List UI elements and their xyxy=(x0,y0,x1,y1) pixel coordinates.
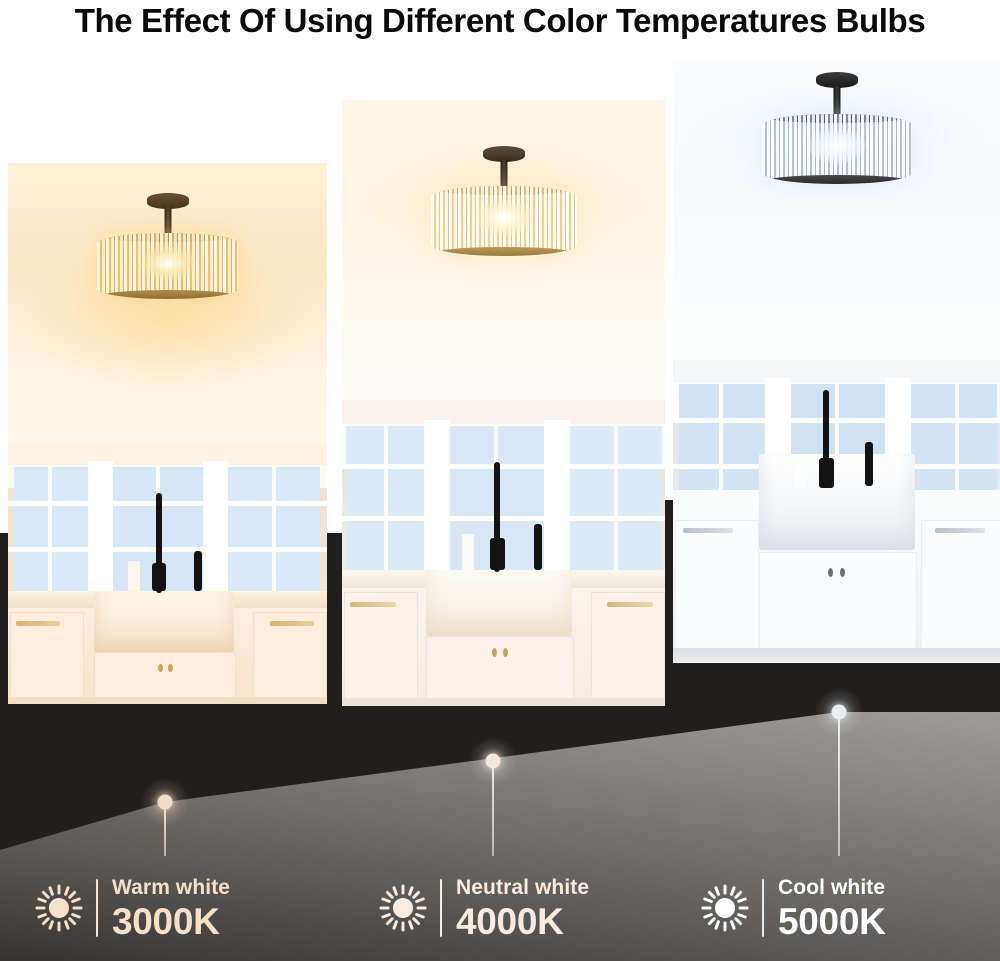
cabinet-handle-right-neutral xyxy=(607,602,653,607)
kitchen-scene-cool xyxy=(673,60,1000,663)
kitchen-scene-neutral xyxy=(342,100,665,706)
cabinet-knob-a-warm xyxy=(158,664,163,672)
cabinet-knob-b-cool xyxy=(840,568,845,577)
marker-warm-stem xyxy=(164,808,166,856)
legend-kelvin: 5000K xyxy=(778,903,886,940)
photo-panel-warm-white xyxy=(8,163,327,704)
window-header-neutral xyxy=(342,400,665,424)
window-mullion-1-neutral xyxy=(424,420,450,572)
baseboard-cool xyxy=(673,648,1000,662)
sun-icon xyxy=(378,883,428,933)
faucet-neck-neutral xyxy=(490,538,505,570)
cabinet-right-neutral xyxy=(591,592,665,706)
legend-kelvin: 3000K xyxy=(112,903,230,940)
soap-dispenser-neutral xyxy=(462,534,474,570)
baseboard-neutral xyxy=(342,698,665,706)
window-band-warm xyxy=(8,443,327,593)
window-mullion-2-warm xyxy=(203,461,228,593)
faucet-neck-cool xyxy=(819,458,834,488)
marker-cool-stem xyxy=(838,718,840,856)
drum-bottom-ring-neutral xyxy=(431,247,577,256)
legend-name: Cool white xyxy=(778,877,886,898)
farmhouse-sink-warm xyxy=(94,592,234,652)
cabinet-row-cool xyxy=(673,490,1000,660)
faucet-sprayer-neutral xyxy=(534,524,542,570)
cabinet-row-warm xyxy=(8,608,327,704)
legend-labels: Neutral white 4000K xyxy=(456,877,589,940)
drum-bottom-ring-cool xyxy=(762,175,912,184)
lamp-drum-neutral xyxy=(431,186,577,256)
legend-kelvin: 4000K xyxy=(456,903,589,940)
lamp-drum-cool xyxy=(762,114,912,184)
window-mullion-2-neutral xyxy=(544,420,570,572)
drum-bottom-ring-warm xyxy=(97,290,239,299)
faucet-neck-warm xyxy=(152,563,166,591)
cabinet-knob-b-neutral xyxy=(503,648,508,657)
legend-name: Neutral white xyxy=(456,877,589,898)
infographic-root: The Effect Of Using Different Color Temp… xyxy=(0,0,1000,961)
photo-panel-neutral-white xyxy=(342,100,665,706)
soap-dispenser-cool xyxy=(795,456,807,488)
sink-base-cabinet-neutral xyxy=(426,636,574,706)
faucet-sprayer-warm xyxy=(194,551,202,591)
sun-icon xyxy=(700,883,750,933)
cabinet-knob-b-warm xyxy=(168,664,173,672)
window-grid-v3-neutral xyxy=(614,426,618,572)
faucet-sprayer-cool xyxy=(865,442,873,486)
cabinet-left-neutral xyxy=(344,592,418,706)
baseboard-warm xyxy=(8,697,327,704)
window-grid-h2-warm xyxy=(8,547,327,552)
legend-divider xyxy=(762,879,764,937)
bulb-core-cool xyxy=(808,128,866,164)
page-title: The Effect Of Using Different Color Temp… xyxy=(0,0,1000,42)
window-grid-h1-warm xyxy=(8,501,327,506)
cabinet-row-neutral xyxy=(342,588,665,706)
cabinet-right-cool xyxy=(921,520,1000,662)
window-header-warm xyxy=(8,443,327,465)
marker-neutral-stem xyxy=(492,767,494,856)
farmhouse-sink-neutral xyxy=(426,570,572,636)
window-grid-v1-warm xyxy=(48,467,52,593)
legend-labels: Warm white 3000K xyxy=(112,877,230,940)
farmhouse-sink-cool xyxy=(759,454,915,550)
legend-divider xyxy=(440,879,442,937)
soap-dispenser-warm xyxy=(128,561,140,591)
legend-divider xyxy=(96,879,98,937)
window-header-cool xyxy=(673,360,1000,382)
cabinet-left-cool xyxy=(675,520,759,662)
sink-base-cabinet-cool xyxy=(759,552,917,662)
cabinet-knob-a-cool xyxy=(828,568,833,577)
cabinet-handle-left-warm xyxy=(16,621,60,626)
legend-item-neutral-white[interactable]: Neutral white 4000K xyxy=(378,855,589,961)
window-grid-v1-neutral xyxy=(384,426,388,572)
window-grid-v3-warm xyxy=(272,467,276,593)
bulb-core-warm xyxy=(140,246,196,280)
cabinet-handle-left-cool xyxy=(683,528,733,533)
legend-labels: Cool white 5000K xyxy=(778,877,886,940)
sun-icon xyxy=(34,883,84,933)
legend-item-warm-white[interactable]: Warm white 3000K xyxy=(34,855,230,961)
legend: Warm white 3000K xyxy=(0,855,1000,961)
legend-name: Warm white xyxy=(112,877,230,898)
legend-item-cool-white[interactable]: Cool white 5000K xyxy=(700,855,886,961)
cabinet-handle-left-neutral xyxy=(350,602,396,607)
cabinet-handle-right-cool xyxy=(935,528,985,533)
lamp-drum-warm xyxy=(97,233,239,299)
cabinet-knob-a-neutral xyxy=(492,648,497,657)
bulb-core-neutral xyxy=(475,200,533,236)
kitchen-scene-warm xyxy=(8,163,327,704)
photo-panel-cool-white xyxy=(673,60,1000,663)
cabinet-handle-right-warm xyxy=(270,621,314,626)
window-mullion-1-warm xyxy=(88,461,113,593)
